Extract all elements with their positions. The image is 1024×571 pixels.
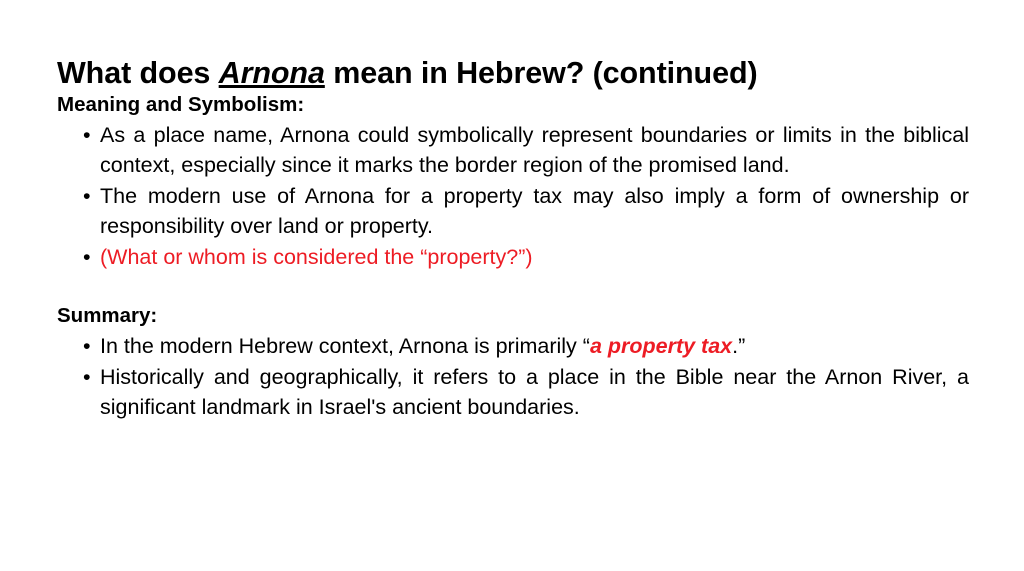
list-item: As a place name, Arnona could symbolical… — [57, 121, 969, 180]
page-title: What does Arnona mean in Hebrew? (contin… — [57, 56, 987, 90]
bullet-text: As a place name, Arnona could symbolical… — [100, 121, 969, 180]
title-emphasis-arnona: Arnona — [219, 56, 325, 90]
bullet-text-mixed: In the modern Hebrew context, Arnona is … — [100, 332, 969, 361]
bullet-list-summary: In the modern Hebrew context, Arnona is … — [57, 332, 969, 422]
section-heading-meaning: Meaning and Symbolism: — [57, 92, 969, 118]
slide-canvas: What does Arnona mean in Hebrew? (contin… — [0, 0, 1024, 571]
bullet-lead-text: In the modern Hebrew context, Arnona is … — [100, 334, 590, 358]
list-item: (What or whom is considered the “propert… — [57, 243, 969, 272]
title-text-before: What does — [57, 56, 219, 90]
list-item: The modern use of Arnona for a property … — [57, 182, 969, 241]
list-item: Historically and geographically, it refe… — [57, 363, 969, 422]
slide-body: Meaning and Symbolism: As a place name, … — [57, 92, 969, 424]
bullet-highlight-text: a property tax — [590, 334, 732, 358]
bullet-text-highlighted: (What or whom is considered the “propert… — [100, 243, 969, 272]
list-item: In the modern Hebrew context, Arnona is … — [57, 332, 969, 361]
section-spacer — [57, 275, 969, 303]
bullet-text: Historically and geographically, it refe… — [100, 363, 969, 422]
bullet-tail-text: .” — [732, 334, 745, 358]
section-heading-summary: Summary: — [57, 303, 969, 329]
bullet-text: The modern use of Arnona for a property … — [100, 182, 969, 241]
bullet-list-meaning: As a place name, Arnona could symbolical… — [57, 121, 969, 272]
title-text-after: mean in Hebrew? (continued) — [325, 56, 758, 90]
